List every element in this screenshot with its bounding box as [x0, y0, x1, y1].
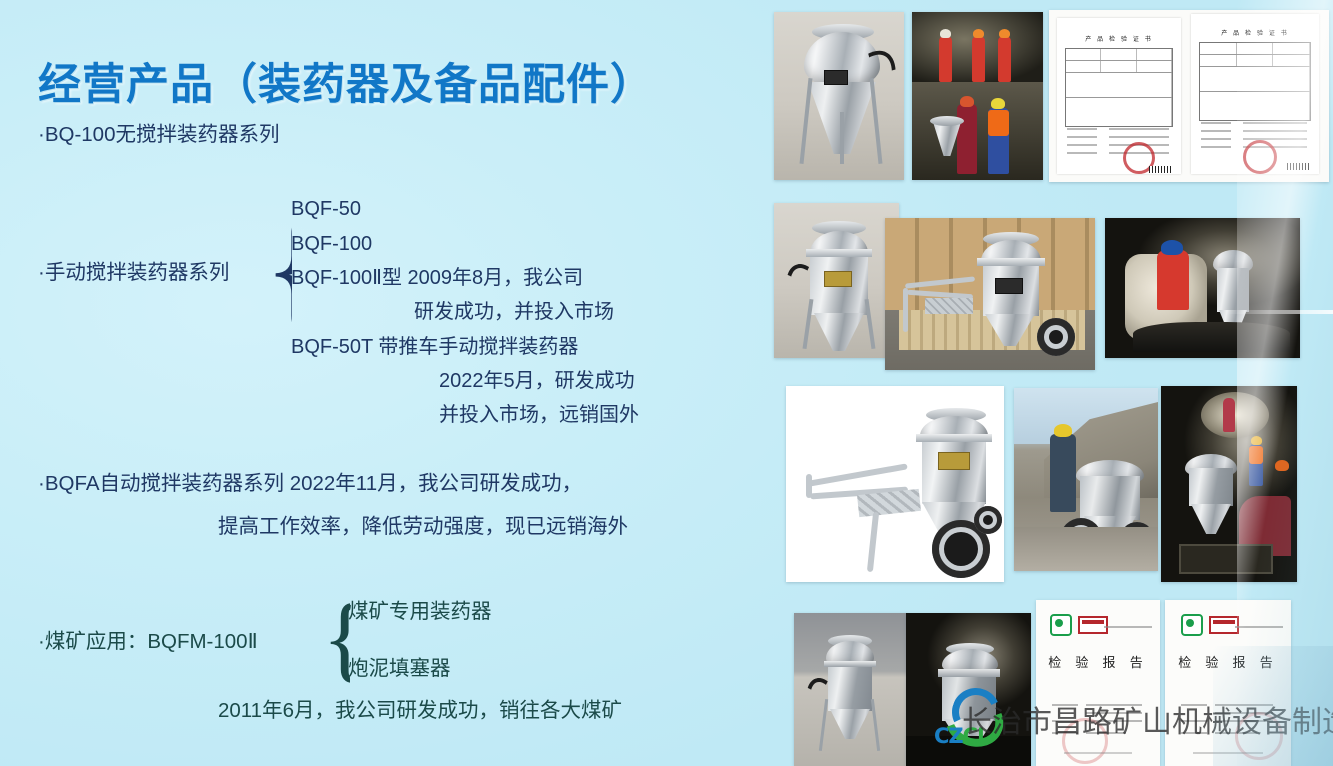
photo-workshop-charger[interactable]: 车间成品装药器: [794, 613, 906, 766]
photo-bqfa-wheeled-charger[interactable]: BQFA自动搅拌装药器: [786, 386, 1004, 582]
manual-item-bqf50t: BQF-50T 带推车手动搅拌装药器: [291, 337, 578, 357]
photo-inspection-report-2[interactable]: 检 验 报 告 检验报告: [1165, 600, 1291, 766]
content-text-column: 经营产品（装药器及备品配件） ·BQ-100无搅拌装药器系列 ·手动搅拌装药器系…: [0, 0, 770, 766]
certificate-title-1: 产 品 检 验 证 书: [1057, 34, 1181, 43]
manual-item-bqf100ii: BQF-100Ⅱ型 2009年8月，我公司: [291, 268, 583, 288]
inspection-report-title-2: 检 验 报 告: [1165, 652, 1291, 671]
photo-inspection-report-1[interactable]: 检 验 报 告 检验报告: [1036, 600, 1160, 766]
brace-coal-icon: {: [322, 593, 350, 685]
manual-item-bqf50: BQF-50: [291, 199, 361, 219]
manual-item-bqf100ii-cont: 研发成功，并投入市场: [414, 302, 614, 322]
photo-underground-operation[interactable]: 井下装药作业: [1105, 218, 1300, 358]
company-watermark: 长治市昌路矿山机械设备制造有限公司: [962, 697, 1333, 741]
photo-mine-crew-onsite[interactable]: 矿井现场作业: [912, 12, 1043, 180]
brace-manual-icon: {: [262, 196, 292, 342]
section-bq100-label: ·BQ-100无搅拌装药器系列: [38, 125, 279, 146]
inspection-report-title-1: 检 验 报 告: [1036, 652, 1160, 671]
section-coal-label: ·煤矿应用：BQFM-100Ⅱ: [38, 632, 258, 653]
manual-item-bqf50t-cont2: 并投入市场，远销国外: [439, 405, 639, 425]
page-title: 经营产品（装药器及备品配件）: [38, 50, 654, 112]
presentation-slide: 经营产品（装药器及备品配件） ·BQ-100无搅拌装药器系列 ·手动搅拌装药器系…: [0, 0, 1333, 766]
section-manual-label: ·手动搅拌装药器系列: [38, 263, 229, 284]
certificate-pair[interactable]: 产 品 检 验 证 书 产 品 检 验: [1049, 10, 1329, 182]
photo-bqf-manual-charger[interactable]: BQF手动搅拌装药器: [774, 203, 899, 358]
coal-note: 2011年6月，我公司研发成功，销往各大煤矿: [218, 701, 622, 722]
manual-item-bqf50t-cont1: 2022年5月，研发成功: [439, 371, 635, 391]
manual-item-bqf100: BQF-100: [291, 234, 372, 254]
certificate-title-2: 产 品 检 验 证 书: [1191, 28, 1319, 37]
coal-item-stemming-device: 炮泥填塞器: [348, 659, 451, 680]
photo-tunnel-charging[interactable]: 巷道装药作业: [1161, 386, 1297, 582]
photo-bq100-charger[interactable]: BQ-100无搅拌装药器: [774, 12, 904, 180]
photo-bqf50t-cart-charger[interactable]: BQF-50T 带推车装药器: [885, 218, 1095, 370]
section-auto-line2: 提高工作效率，降低劳动强度，现已远销海外: [218, 517, 628, 538]
photo-outdoor-worker-cart[interactable]: 海外现场推车装药器: [1014, 388, 1158, 571]
section-auto-line1: ·BQFA自动搅拌装药器系列 2022年11月，我公司研发成功，: [38, 474, 582, 495]
coal-item-special-charger: 煤矿专用装药器: [348, 602, 492, 623]
photo-gallery: BQ-100无搅拌装药器 矿井现场作业 产 品 检 验 证 书: [770, 0, 1333, 766]
